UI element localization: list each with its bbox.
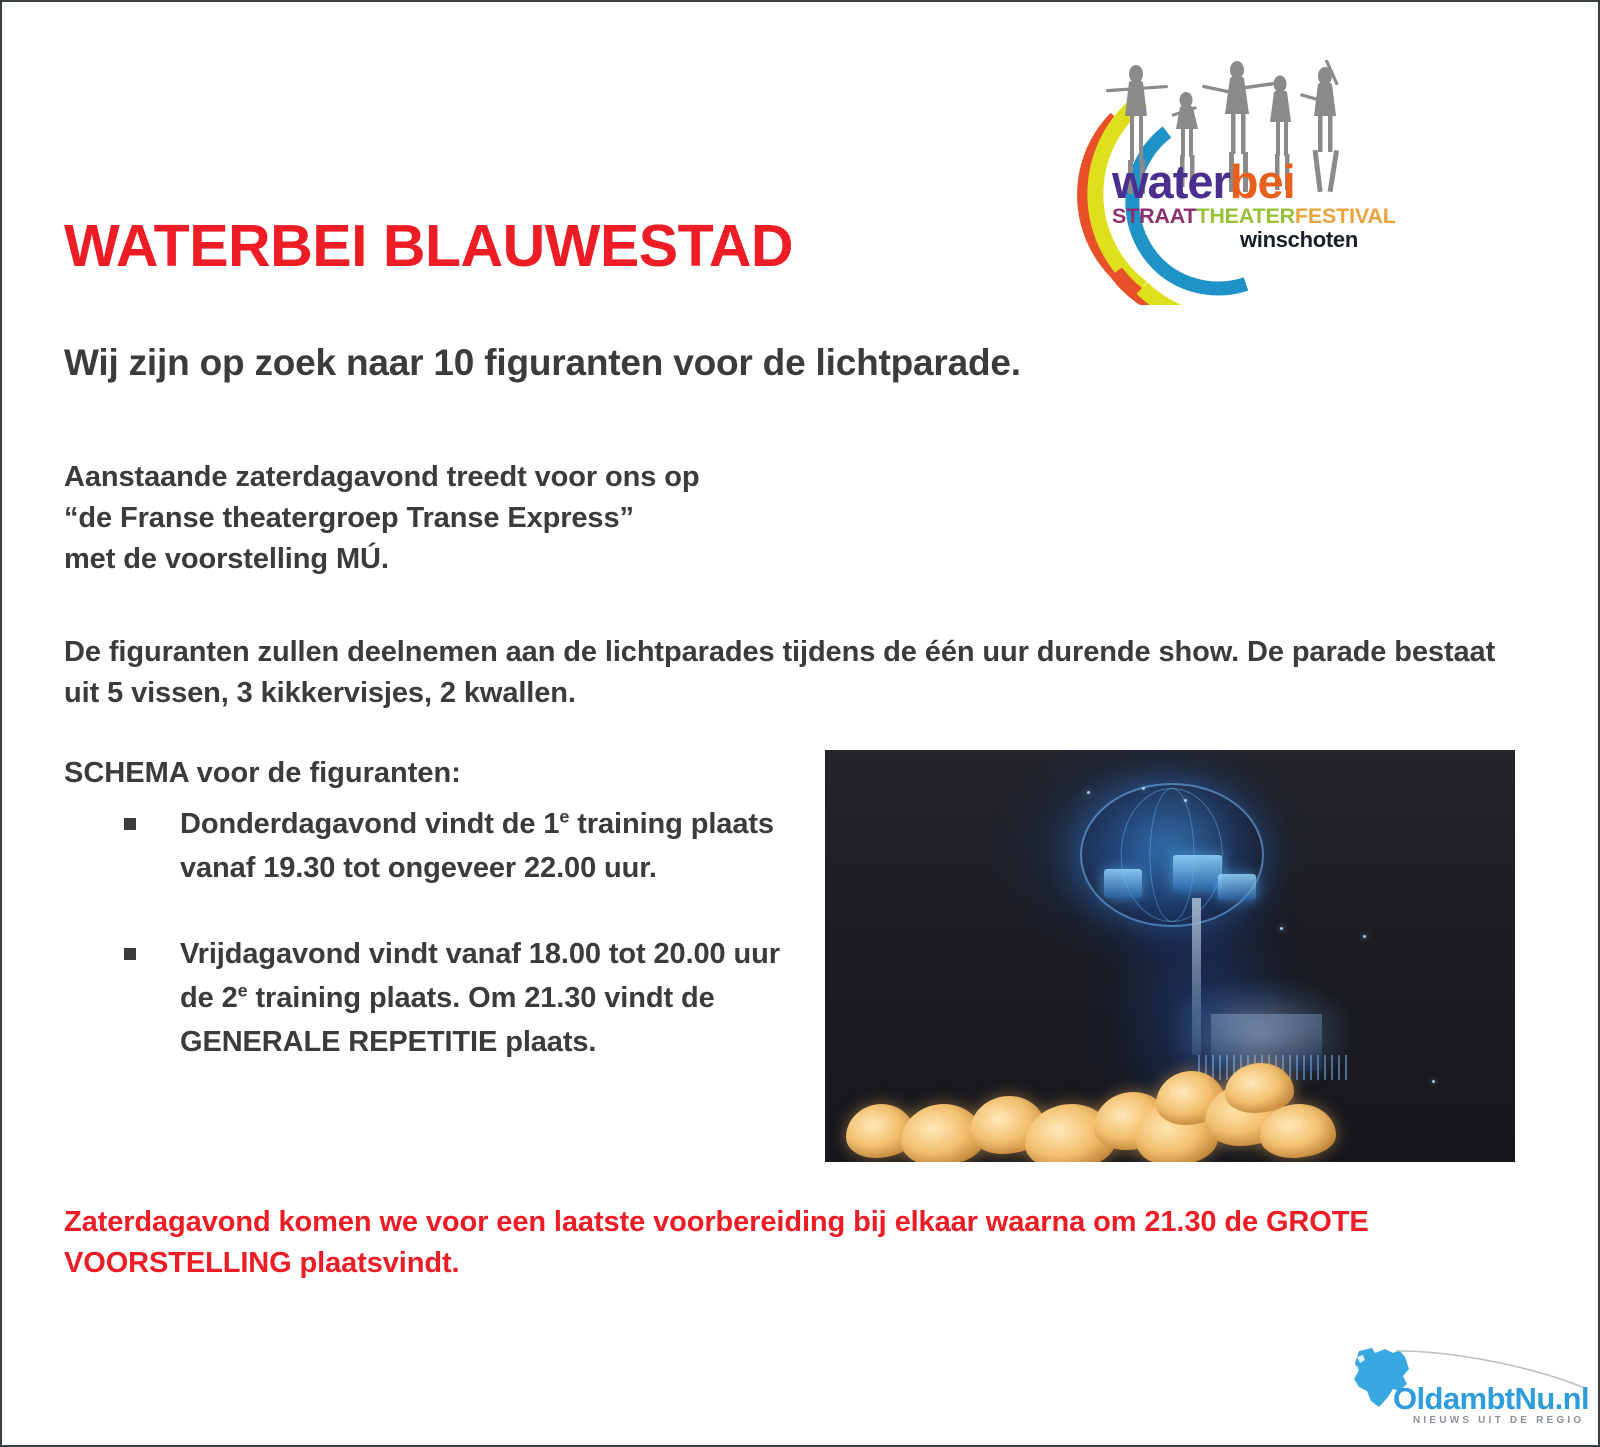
intro-line-3: met de voorstelling MÚ.	[64, 539, 964, 580]
page-title: WATERBEI BLAUWESTAD	[64, 212, 793, 280]
festival-logo-word-theater: THEATER	[1196, 204, 1295, 228]
festival-logo: waterbei STRAATTHEATERFESTIVAL winschote…	[1064, 60, 1364, 305]
festival-logo-wordmark: waterbei STRAATTHEATERFESTIVAL winschote…	[1112, 158, 1364, 251]
oldambtnu-logo[interactable]: OldambtNu.nl NIEUWS UIT DE REGIO	[1337, 1335, 1589, 1435]
photo-fish-lantern	[1225, 1063, 1294, 1112]
bullet-ordinal-suffix: e	[238, 981, 248, 1001]
schema-label: SCHEMA voor de figuranten:	[64, 757, 461, 790]
bullet-ordinal-suffix: e	[559, 806, 569, 826]
intro-line-1: Aanstaande zaterdagavond treedt voor ons…	[64, 457, 964, 498]
photo-fish-lantern	[1260, 1104, 1336, 1158]
poster-page: waterbei STRAATTHEATERFESTIVAL winschote…	[0, 0, 1600, 1447]
paragraph-intro: Aanstaande zaterdagavond treedt voor ons…	[64, 457, 964, 581]
bullet-text-prefix: Donderdagavond vindt de 1	[180, 808, 559, 840]
photo-gondola	[1104, 869, 1142, 898]
photo-gondola	[1218, 874, 1256, 901]
festival-logo-word-straattheaterfestival: STRAATTHEATERFESTIVAL	[1112, 206, 1364, 228]
photo-illuminated-dome	[1080, 783, 1263, 927]
square-bullet-icon	[124, 948, 136, 960]
paragraph-closing: Zaterdagavond komen we voor een laatste …	[64, 1202, 1524, 1284]
lichtparade-photo	[825, 750, 1515, 1162]
site-logo-tagline: NIEUWS UIT DE REGIO	[1413, 1415, 1584, 1426]
festival-logo-word-winschoten: winschoten	[1112, 229, 1364, 251]
list-item: Donderdagavond vindt de 1e training plaa…	[120, 802, 780, 890]
festival-logo-word-bei: bei	[1230, 155, 1295, 208]
festival-logo-word-festival: FESTIVAL	[1295, 204, 1396, 228]
festival-logo-word-water: water	[1112, 155, 1230, 208]
square-bullet-icon	[124, 818, 136, 830]
schema-bullet-list: Donderdagavond vindt de 1e training plaa…	[120, 802, 780, 1064]
festival-logo-word-straat: STRAAT	[1112, 204, 1196, 228]
site-logo-brand: OldambtNu.nl	[1393, 1381, 1589, 1417]
list-item: Vrijdagavond vindt vanaf 18.00 tot 20.00…	[120, 932, 780, 1064]
page-subtitle: Wij zijn op zoek naar 10 figuranten voor…	[64, 342, 1021, 384]
photo-light-spark	[1432, 1080, 1435, 1083]
festival-logo-word-waterbei: waterbei	[1112, 158, 1364, 205]
intro-line-2: “de Franse theatergroep Transe Express”	[64, 498, 964, 539]
paragraph-parade: De figuranten zullen deelnemen aan de li…	[64, 632, 1524, 714]
bullet-text-suffix: training plaats. Om 21.30 vindt de GENER…	[180, 982, 715, 1058]
photo-gondola	[1173, 855, 1221, 890]
